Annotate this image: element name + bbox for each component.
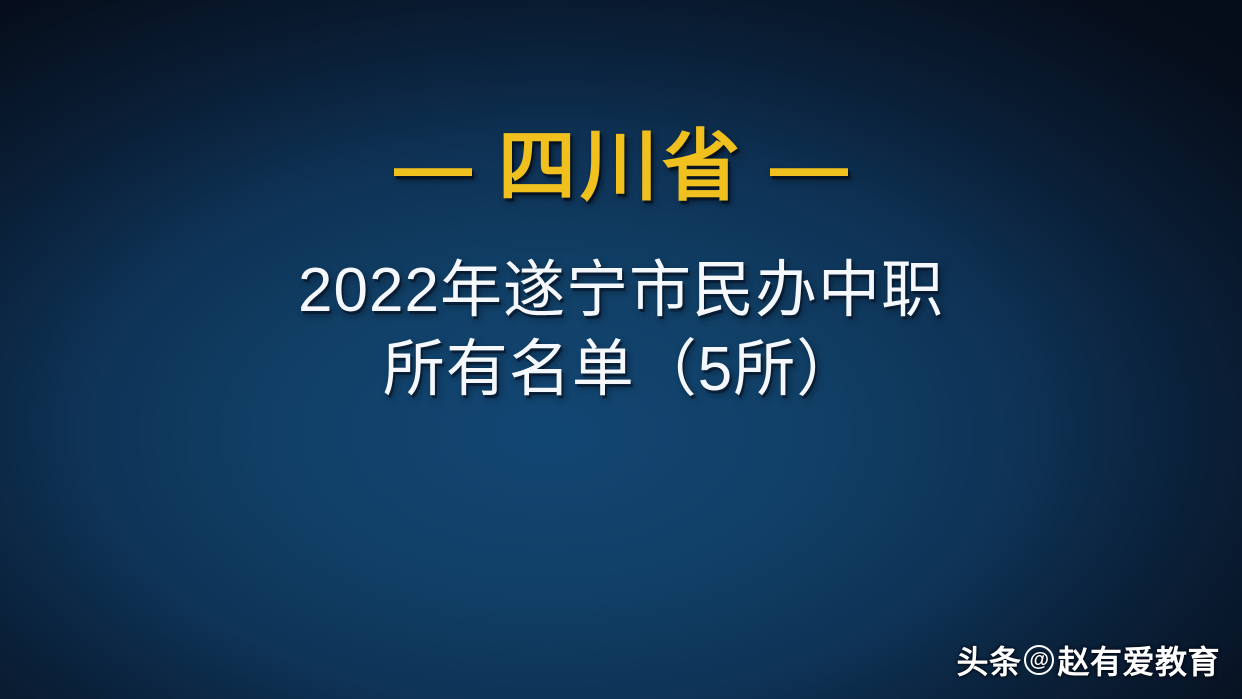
subtitle-line-1: 2022年遂宁市民办中职 (0, 251, 1242, 330)
heading-text: 四川省 (498, 124, 744, 208)
slide-canvas: —四川省— 2022年遂宁市民办中职 所有名单（5所） 头条 @ 赵有爱教育 (0, 0, 1242, 699)
page-title: —四川省— (0, 118, 1242, 209)
watermark: 头条 @ 赵有爱教育 (956, 637, 1220, 683)
subtitle-line-2: 所有名单（5所） (0, 330, 1242, 409)
watermark-brand-label: 头条 (956, 637, 1021, 683)
subtitle: 2022年遂宁市民办中职 所有名单（5所） (0, 251, 1242, 410)
title-block: —四川省— 2022年遂宁市民办中职 所有名单（5所） (0, 118, 1242, 409)
watermark-account-label: 赵有爱教育 (1057, 637, 1220, 683)
heading-right-dash-icon: — (770, 124, 848, 208)
heading-left-dash-icon: — (394, 124, 472, 208)
at-circle-icon: @ (1024, 645, 1054, 675)
